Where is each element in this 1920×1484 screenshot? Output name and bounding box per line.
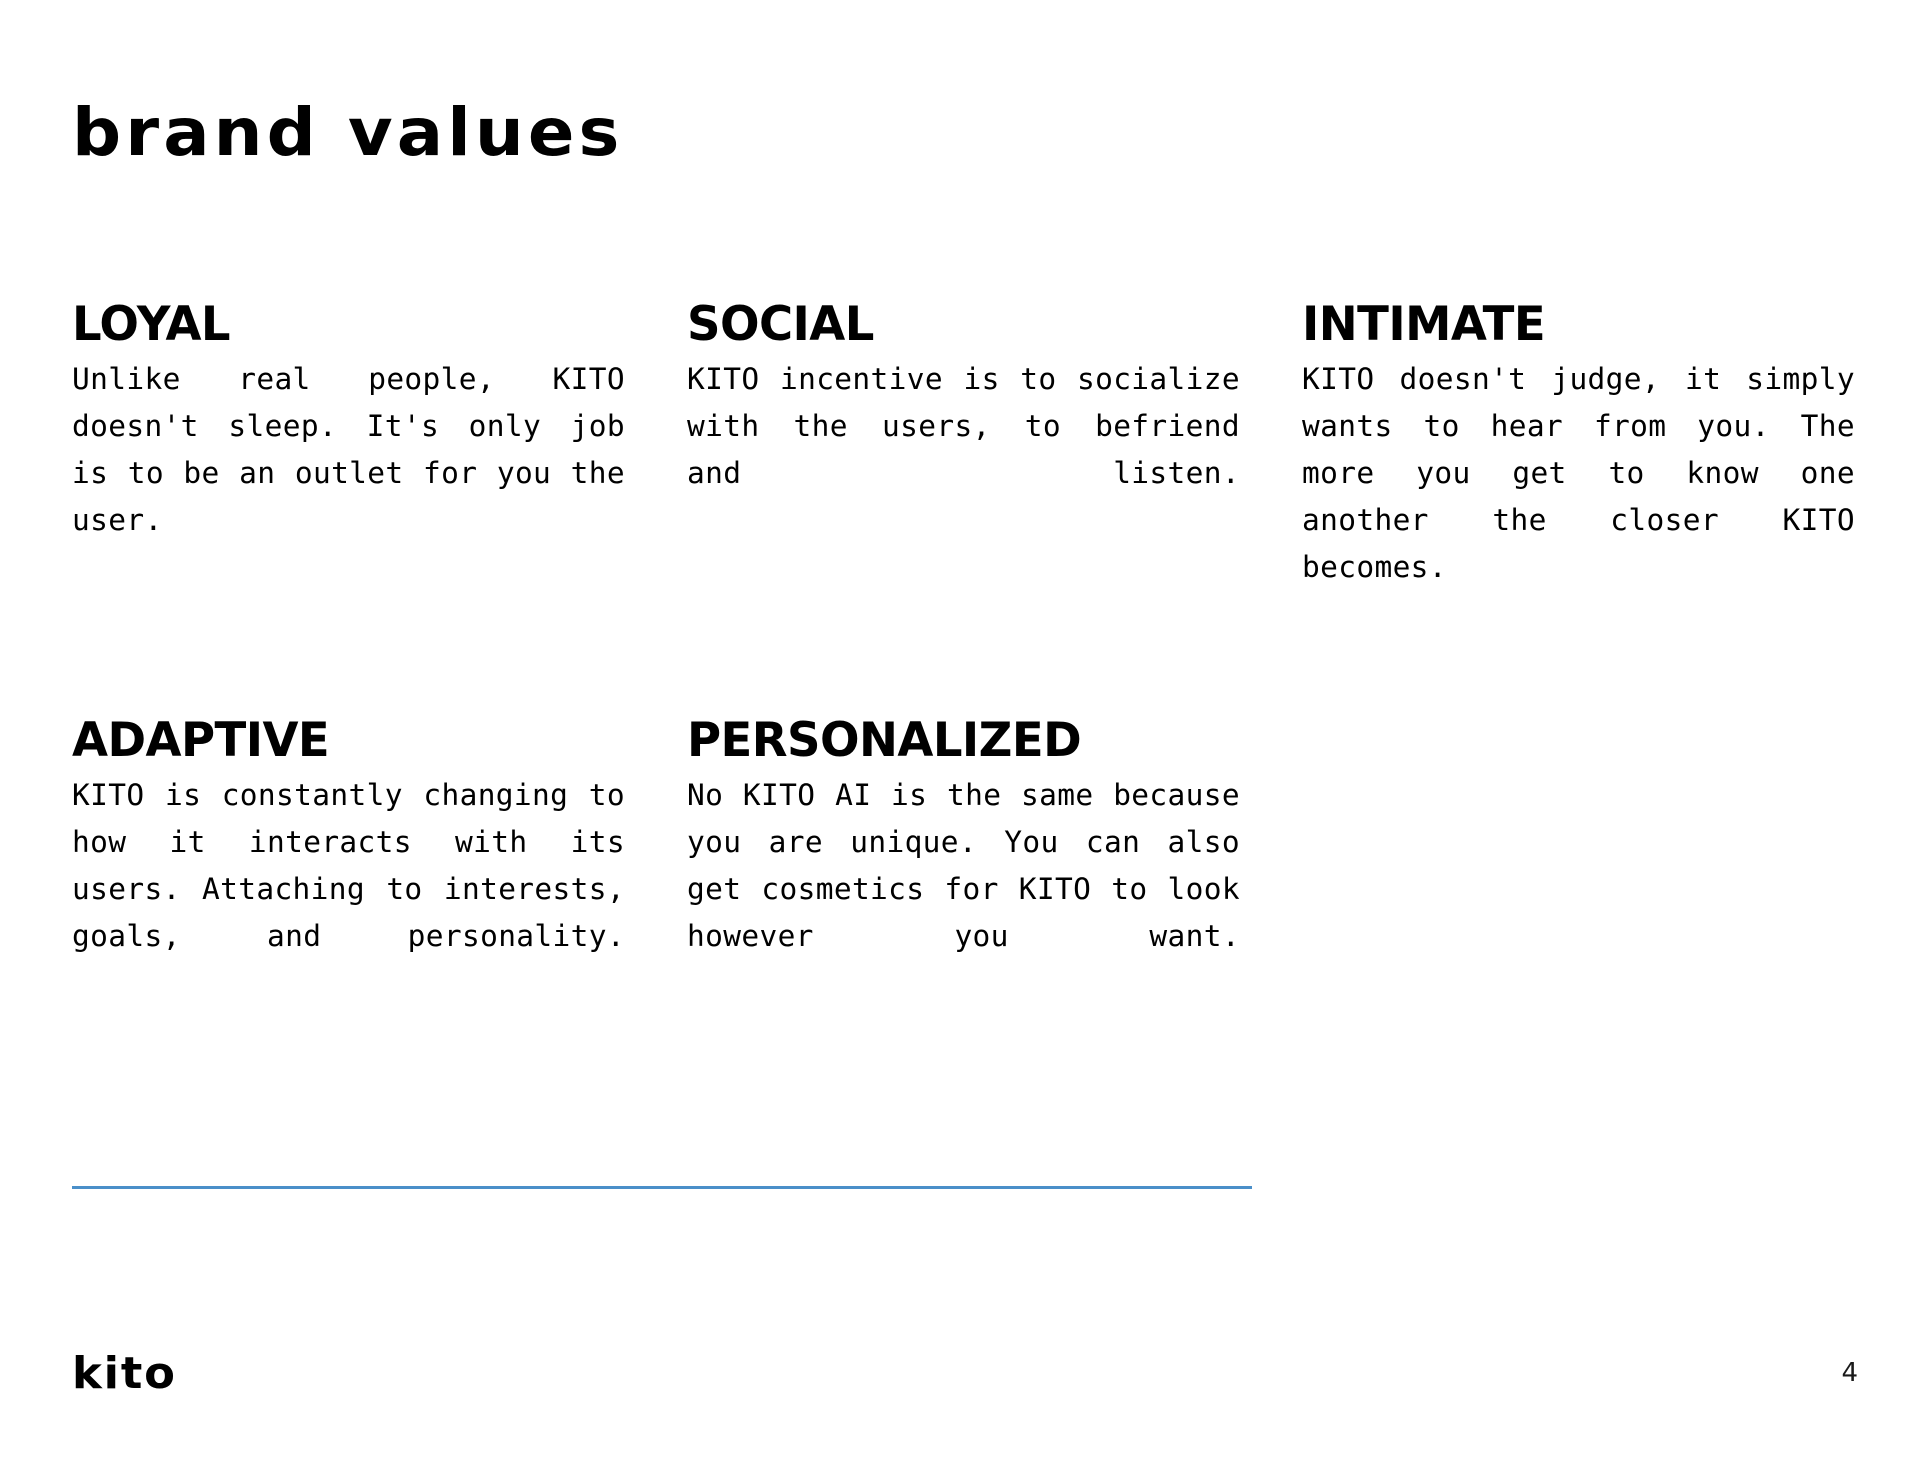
page-title: brand values — [72, 100, 623, 166]
value-block-loyal: LOYAL Unlike real people, KITO doesn't s… — [72, 300, 625, 591]
value-body-personalized: No KITO AI is the same because you are u… — [687, 772, 1240, 1007]
brand-values-grid: LOYAL Unlike real people, KITO doesn't s… — [72, 300, 1862, 1007]
value-block-personalized: PERSONALIZED No KITO AI is the same beca… — [687, 716, 1240, 1007]
value-body-intimate: KITO doesn't judge, it simply wants to h… — [1302, 356, 1855, 638]
value-block-adaptive: ADAPTIVE KITO is constantly changing to … — [72, 716, 625, 1007]
value-block-social: SOCIAL KITO incentive is to socialize wi… — [687, 300, 1240, 544]
value-heading-adaptive: ADAPTIVE — [72, 716, 619, 766]
value-heading-social: SOCIAL — [687, 300, 1234, 350]
value-body-loyal: Unlike real people, KITO doesn't sleep. … — [72, 356, 625, 591]
kito-logo: kito — [72, 1352, 177, 1396]
page-number: 4 — [1841, 1360, 1858, 1386]
value-heading-intimate: INTIMATE — [1302, 300, 1849, 350]
footer-divider-rule — [72, 1186, 1252, 1189]
value-body-social: KITO incentive is to socialize with the … — [687, 356, 1240, 544]
value-body-adaptive: KITO is constantly changing to how it in… — [72, 772, 625, 1007]
value-block-intimate: INTIMATE KITO doesn't judge, it simply w… — [1302, 300, 1855, 638]
value-heading-personalized: PERSONALIZED — [687, 716, 1234, 766]
slide-brand-values: brand values LOYAL Unlike real people, K… — [0, 0, 1920, 1484]
value-heading-loyal: LOYAL — [72, 300, 619, 350]
